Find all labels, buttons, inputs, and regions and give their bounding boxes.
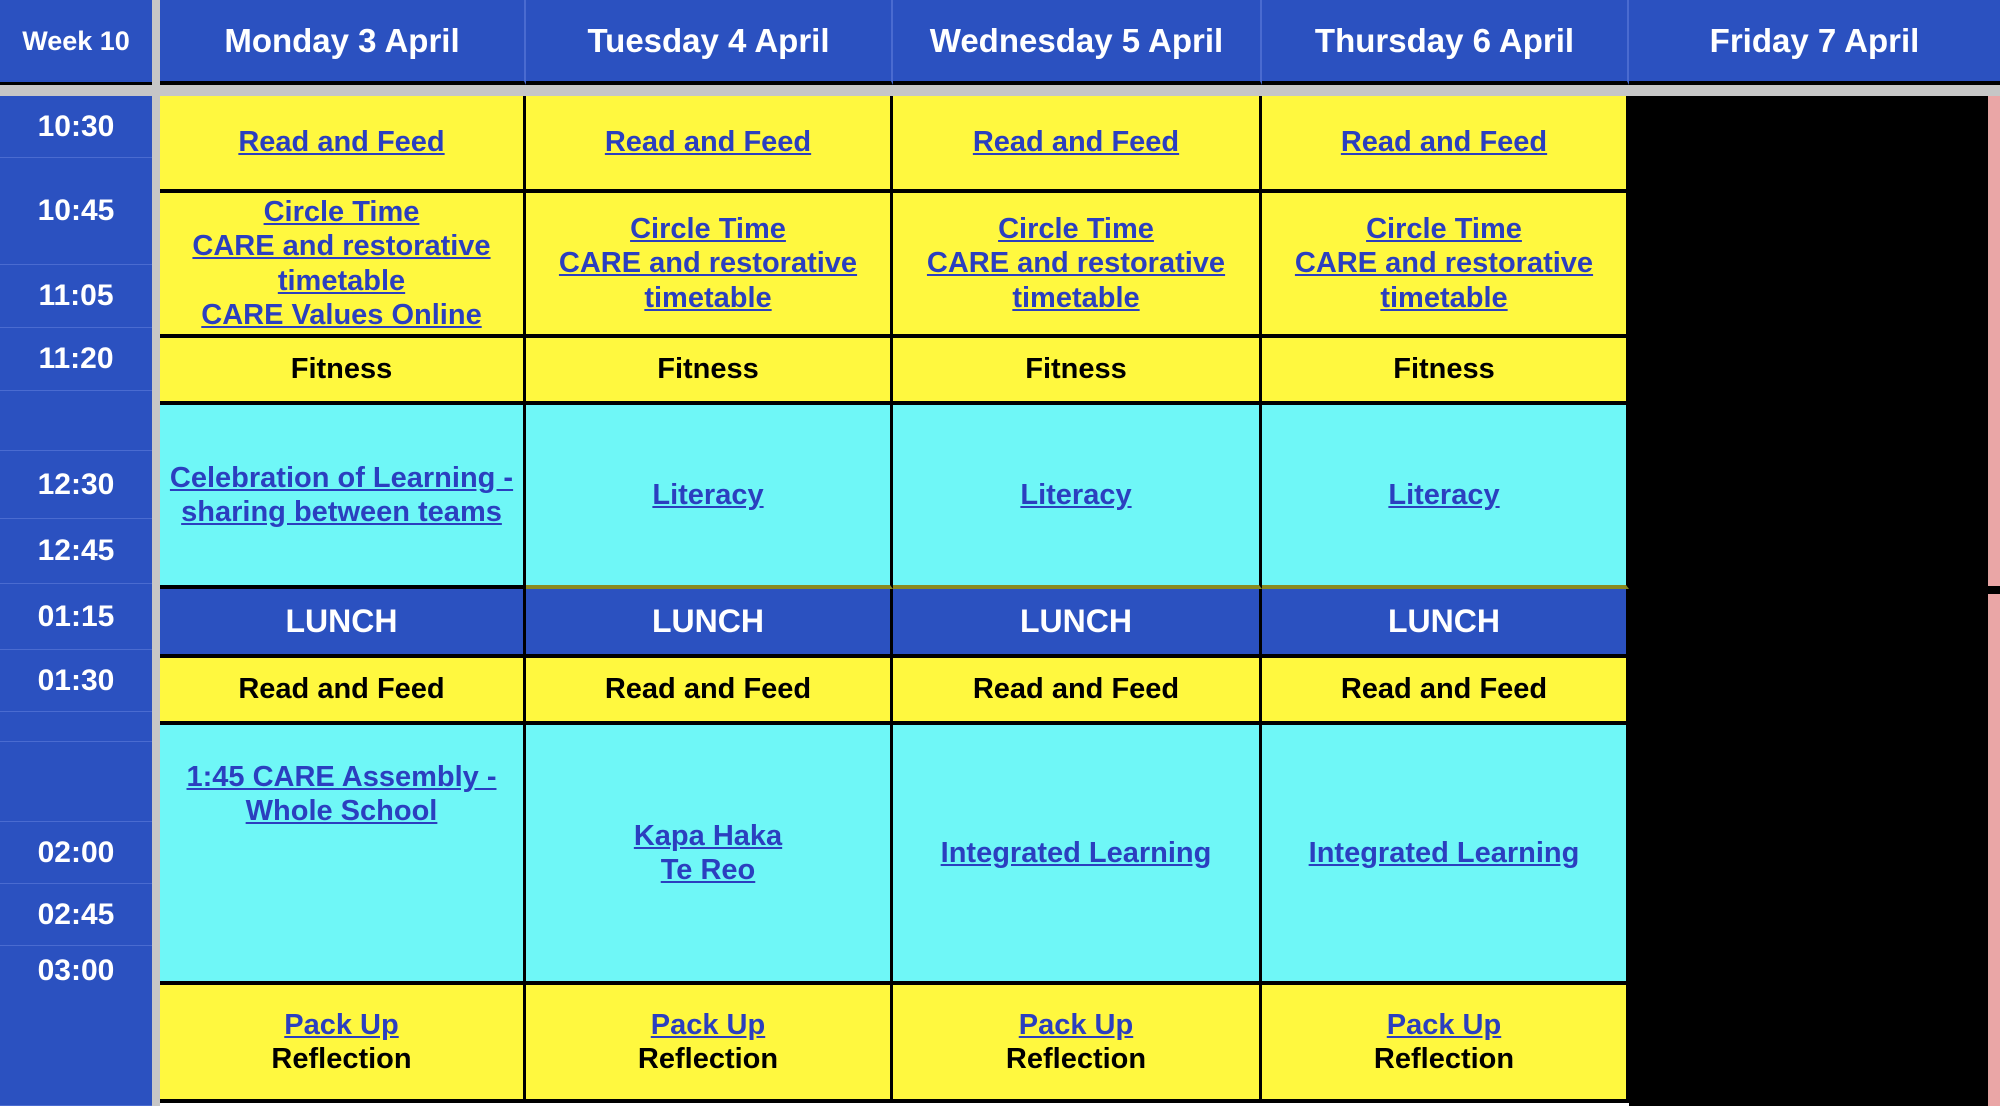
time-text: 11:05 xyxy=(38,279,113,313)
cell-text-block: Literacy xyxy=(899,478,1253,512)
cell-text-block: 1:45 CARE Assembly - Whole School xyxy=(166,760,517,828)
activity-text: LUNCH xyxy=(532,603,884,641)
cell-tuesday-literacy[interactable]: Literacy xyxy=(526,405,893,589)
activity-link[interactable]: Read and Feed xyxy=(532,125,884,159)
cell-monday-read-and-feed-morning[interactable]: Read and Feed xyxy=(160,96,526,193)
time-label-1045: 10:45 xyxy=(0,158,152,265)
activity-text: Read and Feed xyxy=(532,672,884,706)
cell-text-block: Literacy xyxy=(1268,478,1620,512)
cell-thursday-read-and-feed-afternoon[interactable]: Read and Feed xyxy=(1262,658,1629,725)
cell-tuesday-read-and-feed-afternoon[interactable]: Read and Feed xyxy=(526,658,893,725)
time-label-1105: 11:05 xyxy=(0,265,152,328)
day-header-tuesday-label: Tuesday 4 April xyxy=(587,22,829,60)
day-header-friday-label: Friday 7 April xyxy=(1710,22,1920,60)
activity-text: Reflection xyxy=(899,1042,1253,1076)
cell-text-block: Read and Feed xyxy=(166,125,517,159)
day-header-monday: Monday 3 April xyxy=(160,0,526,85)
activity-text: Read and Feed xyxy=(166,672,517,706)
frozen-pane-horizontal-divider xyxy=(0,85,2000,96)
cell-thursday-circle-time[interactable]: Circle Time CARE and restorative timetab… xyxy=(1262,193,1629,338)
time-label-0200: 02:00 xyxy=(0,822,152,884)
cell-text-block: Literacy xyxy=(532,478,884,512)
cell-text-block: Integrated Learning xyxy=(899,836,1253,870)
cell-tuesday-read-and-feed-morning[interactable]: Read and Feed xyxy=(526,96,893,193)
time-text: 01:30 xyxy=(38,664,115,698)
cell-thursday-pack-up[interactable]: Pack Up Reflection xyxy=(1262,985,1629,1103)
cell-wednesday-lunch[interactable]: LUNCH xyxy=(893,589,1262,658)
activity-text: Fitness xyxy=(899,352,1253,386)
activity-link[interactable]: Read and Feed xyxy=(1268,125,1620,159)
activity-text: Fitness xyxy=(532,352,884,386)
cell-text-block: Read and Feed xyxy=(166,672,517,706)
activity-text: LUNCH xyxy=(166,603,517,641)
cell-text-block: Read and Feed xyxy=(532,672,884,706)
activity-text: Fitness xyxy=(166,352,517,386)
cell-monday-read-and-feed-afternoon[interactable]: Read and Feed xyxy=(160,658,526,725)
cell-text-block: Pack Up Reflection xyxy=(166,1008,517,1076)
cell-monday-fitness[interactable]: Fitness xyxy=(160,338,526,405)
activity-link[interactable]: Pack Up xyxy=(899,1008,1253,1042)
activity-link[interactable]: Pack Up xyxy=(532,1008,884,1042)
time-label-0115: 01:15 xyxy=(0,584,152,650)
cell-wednesday-pack-up[interactable]: Pack Up Reflection xyxy=(893,985,1262,1103)
time-text: 02:45 xyxy=(38,898,115,932)
activity-link[interactable]: Circle Time xyxy=(899,212,1253,246)
cell-text-block: LUNCH xyxy=(166,603,517,641)
cell-text-block: Celebration of Learning - sharing betwee… xyxy=(166,461,517,529)
time-text: 02:00 xyxy=(38,836,115,870)
day-header-thursday-label: Thursday 6 April xyxy=(1315,22,1574,60)
cell-tuesday-lunch[interactable]: LUNCH xyxy=(526,589,893,658)
cell-text-block: Pack Up Reflection xyxy=(1268,1008,1620,1076)
cell-wednesday-read-and-feed-morning[interactable]: Read and Feed xyxy=(893,96,1262,193)
day-header-friday: Friday 7 April xyxy=(1629,0,2000,85)
cell-text-block: Circle Time CARE and restorative timetab… xyxy=(532,212,884,315)
cell-text-block: Integrated Learning xyxy=(1268,836,1620,870)
activity-link[interactable]: Integrated Learning xyxy=(1268,836,1620,870)
activity-link[interactable]: Read and Feed xyxy=(166,125,517,159)
cell-text-block: LUNCH xyxy=(899,603,1253,641)
cell-text-block: Fitness xyxy=(1268,352,1620,386)
day-header-tuesday: Tuesday 4 April xyxy=(526,0,893,85)
activity-link[interactable]: CARE Values Online xyxy=(166,298,517,332)
time-label-spacer-1 xyxy=(0,391,152,451)
day-header-wednesday-label: Wednesday 5 April xyxy=(930,22,1223,60)
time-label-1030: 10:30 xyxy=(0,96,152,158)
cell-monday-circle-time[interactable]: Circle Time CARE and restorative timetab… xyxy=(160,193,526,338)
right-edge-row-divider xyxy=(1988,586,2000,594)
week-label-header: Week 10 xyxy=(0,0,152,85)
cell-tuesday-pack-up[interactable]: Pack Up Reflection xyxy=(526,985,893,1103)
time-label-0130: 01:30 xyxy=(0,650,152,712)
time-text: 10:45 xyxy=(38,194,115,228)
time-text: 01:15 xyxy=(38,600,115,634)
cell-text-block: Kapa Haka Te Reo xyxy=(532,819,884,887)
cell-monday-lunch[interactable]: LUNCH xyxy=(160,589,526,658)
time-text: 12:45 xyxy=(38,534,115,568)
cell-text-block: Fitness xyxy=(899,352,1253,386)
time-text: 03:00 xyxy=(38,954,115,988)
cell-text-block: Circle Time CARE and restorative timetab… xyxy=(1268,212,1620,315)
activity-link[interactable]: Circle Time xyxy=(532,212,884,246)
activity-text: LUNCH xyxy=(1268,603,1620,641)
activity-text: Fitness xyxy=(1268,352,1620,386)
activity-link[interactable]: Read and Feed xyxy=(899,125,1253,159)
activity-text: Reflection xyxy=(1268,1042,1620,1076)
cell-monday-care-assembly[interactable]: 1:45 CARE Assembly - Whole School xyxy=(160,725,526,985)
cell-text-block: Circle Time CARE and restorative timetab… xyxy=(899,212,1253,315)
cell-thursday-read-and-feed-morning[interactable]: Read and Feed xyxy=(1262,96,1629,193)
cell-wednesday-fitness[interactable]: Fitness xyxy=(893,338,1262,405)
activity-link[interactable]: Circle Time xyxy=(1268,212,1620,246)
activity-link[interactable]: Pack Up xyxy=(166,1008,517,1042)
cell-thursday-literacy[interactable]: Literacy xyxy=(1262,405,1629,589)
timetable-sheet: Week 10 Monday 3 April Tuesday 4 April W… xyxy=(0,0,2000,1106)
time-label-0245: 02:45 xyxy=(0,884,152,946)
time-label-0300: 03:00 xyxy=(0,946,152,1106)
activity-link[interactable]: CARE and restorative timetable xyxy=(166,229,517,297)
activity-link[interactable]: CARE and restorative timetable xyxy=(532,246,884,314)
time-label-1245: 12:45 xyxy=(0,519,152,584)
day-header-monday-label: Monday 3 April xyxy=(224,22,459,60)
cell-monday-celebration-of-learning[interactable]: Celebration of Learning - sharing betwee… xyxy=(160,405,526,589)
activity-link[interactable]: Literacy xyxy=(899,478,1253,512)
activity-link[interactable]: Integrated Learning xyxy=(899,836,1253,870)
cell-wednesday-literacy[interactable]: Literacy xyxy=(893,405,1262,589)
right-edge-strip xyxy=(1988,96,2000,1106)
cell-wednesday-read-and-feed-afternoon[interactable]: Read and Feed xyxy=(893,658,1262,725)
cell-thursday-integrated-learning[interactable]: Integrated Learning xyxy=(1262,725,1629,985)
cell-text-block: Circle Time CARE and restorative timetab… xyxy=(166,195,517,332)
activity-link[interactable]: Circle Time xyxy=(166,195,517,229)
cell-text-block: Fitness xyxy=(532,352,884,386)
cell-monday-pack-up[interactable]: Pack Up Reflection xyxy=(160,985,526,1103)
cell-text-block: Read and Feed xyxy=(1268,125,1620,159)
activity-link[interactable]: CARE and restorative timetable xyxy=(1268,246,1620,314)
activity-text: Reflection xyxy=(532,1042,884,1076)
cell-text-block: Read and Feed xyxy=(532,125,884,159)
activity-link[interactable]: Literacy xyxy=(1268,478,1620,512)
activity-link[interactable]: Literacy xyxy=(532,478,884,512)
time-label-1230: 12:30 xyxy=(0,451,152,519)
cell-text-block: Fitness xyxy=(166,352,517,386)
time-text: 12:30 xyxy=(38,468,115,502)
time-label-1120: 11:20 xyxy=(0,328,152,391)
activity-link[interactable]: Te Reo xyxy=(532,853,884,887)
activity-link[interactable]: CARE and restorative timetable xyxy=(899,246,1253,314)
cell-tuesday-fitness[interactable]: Fitness xyxy=(526,338,893,405)
time-label-spacer-3 xyxy=(0,742,152,822)
time-text: 11:20 xyxy=(38,342,113,376)
activity-link[interactable]: 1:45 CARE Assembly - Whole School xyxy=(166,760,517,828)
cell-text-block: Pack Up Reflection xyxy=(532,1008,884,1076)
day-header-wednesday: Wednesday 5 April xyxy=(893,0,1262,85)
day-header-thursday: Thursday 6 April xyxy=(1262,0,1629,85)
cell-text-block: Read and Feed xyxy=(1268,672,1620,706)
cell-friday-blacked-out[interactable] xyxy=(1629,96,1988,1106)
activity-link[interactable]: Kapa Haka xyxy=(532,819,884,853)
cell-wednesday-integrated-learning[interactable]: Integrated Learning xyxy=(893,725,1262,985)
activity-text: Reflection xyxy=(166,1042,517,1076)
cell-text-block: LUNCH xyxy=(532,603,884,641)
cell-thursday-lunch[interactable]: LUNCH xyxy=(1262,589,1629,658)
activity-text: Read and Feed xyxy=(1268,672,1620,706)
activity-link[interactable]: Pack Up xyxy=(1268,1008,1620,1042)
activity-text: LUNCH xyxy=(899,603,1253,641)
cell-text-block: LUNCH xyxy=(1268,603,1620,641)
cell-wednesday-circle-time[interactable]: Circle Time CARE and restorative timetab… xyxy=(893,193,1262,338)
cell-text-block: Read and Feed xyxy=(899,125,1253,159)
activity-text: Read and Feed xyxy=(899,672,1253,706)
week-label-text: Week 10 xyxy=(22,26,130,57)
cell-text-block: Pack Up Reflection xyxy=(899,1008,1253,1076)
cell-thursday-fitness[interactable]: Fitness xyxy=(1262,338,1629,405)
cell-text-block: Read and Feed xyxy=(899,672,1253,706)
frozen-pane-vertical-divider xyxy=(152,0,160,1106)
time-label-spacer-2 xyxy=(0,712,152,742)
cell-tuesday-circle-time[interactable]: Circle Time CARE and restorative timetab… xyxy=(526,193,893,338)
cell-tuesday-kapa-haka-te-reo[interactable]: Kapa Haka Te Reo xyxy=(526,725,893,985)
time-text: 10:30 xyxy=(38,110,115,144)
activity-link[interactable]: Celebration of Learning - sharing betwee… xyxy=(166,461,517,529)
